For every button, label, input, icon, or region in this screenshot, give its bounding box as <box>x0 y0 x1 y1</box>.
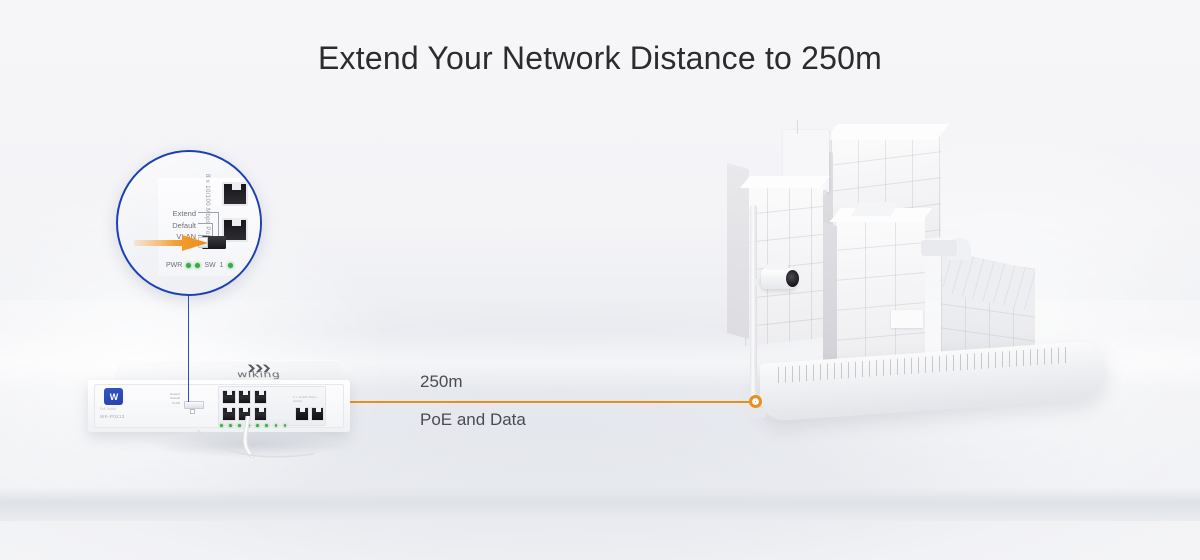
switch-model-number: WK-P0213 <box>100 414 125 419</box>
camera-pole-base <box>742 408 766 418</box>
brand-name: wiking <box>218 371 300 379</box>
roof-antenna <box>797 120 798 134</box>
center-signboard <box>891 310 923 328</box>
dip-mode-labels: Extend Default VLAN <box>150 392 180 405</box>
poe-port-1[interactable] <box>222 390 236 404</box>
callout-led-sw-dot <box>195 263 200 268</box>
uplink-port-1[interactable] <box>295 407 309 421</box>
building-left-roof <box>740 176 830 188</box>
scene-stage: Extend Your Network Distance to 250m <box>0 0 1200 520</box>
camera-sunshade <box>766 264 788 270</box>
callout-leader-line <box>188 296 189 402</box>
link-endpoint-node <box>749 395 762 408</box>
callout-port-upper <box>222 182 248 206</box>
capability-label: PoE and Data <box>420 410 526 430</box>
building-center-tower <box>835 212 925 368</box>
callout-content: 8 x 10/100 Mbps PoE Extend Default VLAN <box>118 152 260 294</box>
camera-lens-icon <box>786 270 799 287</box>
page-title: Extend Your Network Distance to 250m <box>0 40 1200 77</box>
magnifier-callout: 8 x 10/100 Mbps PoE Extend Default VLAN <box>116 150 262 296</box>
uplink-label: 2 x 10/100 Mbps Uplink <box>293 395 325 403</box>
callout-led-port1 <box>228 263 233 268</box>
callout-led-label-pwr: PWR <box>166 262 182 269</box>
callout-port-label: 8 x 10/100 Mbps PoE <box>204 174 210 239</box>
callout-led-pwr <box>186 263 191 268</box>
ground-edge <box>0 487 1200 521</box>
dip-label-vlan: VLAN <box>150 401 180 405</box>
dip-switch-slider[interactable] <box>184 401 204 409</box>
brand-wordmark: ❯❯❯ wiking <box>218 365 300 379</box>
building-center-side <box>823 222 837 367</box>
brand-logo-badge: W <box>104 388 123 405</box>
camera-pole <box>750 205 757 415</box>
poe-port-5[interactable] <box>254 390 268 404</box>
roof-structure <box>851 202 899 216</box>
leader-extend <box>198 212 218 213</box>
leader-default <box>198 223 212 224</box>
callout-led-label-1: 1 <box>220 262 224 269</box>
uplink-port-group[interactable] <box>295 407 324 421</box>
building-left-side <box>727 163 749 339</box>
dip-switch-nub[interactable] <box>190 409 195 414</box>
callout-ring: 8 x 10/100 Mbps PoE Extend Default VLAN <box>116 150 262 296</box>
ground-cable <box>196 424 316 464</box>
poe-port-3[interactable] <box>238 390 252 404</box>
building-rear-roof <box>825 124 950 140</box>
distance-label: 250m <box>420 372 463 392</box>
highlight-arrow-icon <box>134 235 208 251</box>
poe-port-2[interactable] <box>222 407 236 421</box>
callout-led-row: PWR SW 1 <box>166 262 233 269</box>
dip-switch-block[interactable]: Extend Default VLAN <box>180 396 210 410</box>
callout-label-default: Default <box>140 220 196 232</box>
callout-led-label-sw: SW <box>204 262 215 269</box>
roof-unit <box>921 240 957 256</box>
uplink-port-2[interactable] <box>311 407 325 421</box>
switch-subtext: PoE Switch <box>100 407 116 411</box>
port-row-top[interactable] <box>222 390 267 404</box>
callout-label-extend: Extend <box>140 208 196 220</box>
